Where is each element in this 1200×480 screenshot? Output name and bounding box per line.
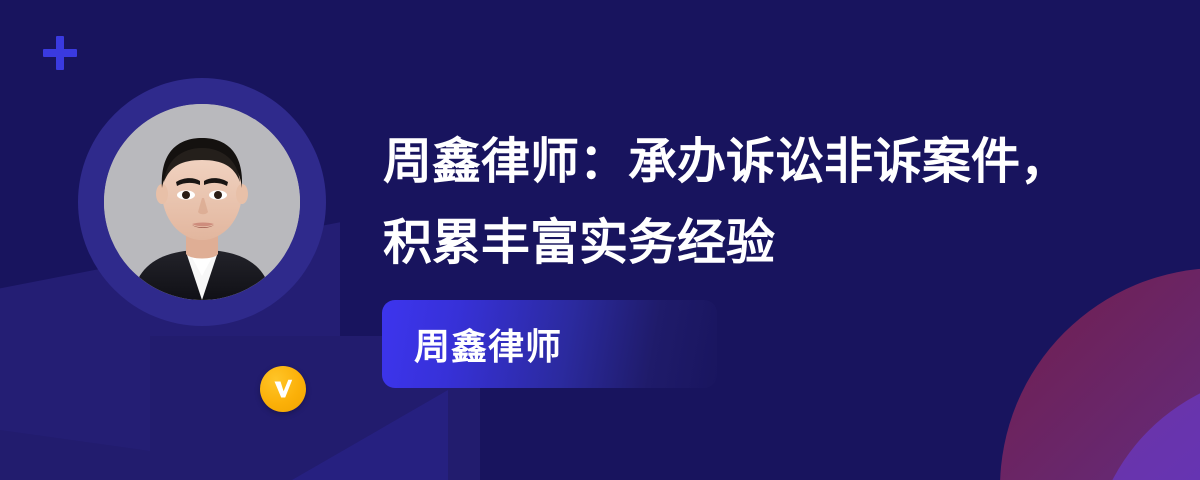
verified-badge-icon (260, 366, 306, 412)
decorative-gradient-circle-inner (1090, 372, 1200, 480)
avatar-photo (104, 104, 300, 300)
page-title: 周鑫律师：承办诉讼非诉案件，积累丰富实务经验 (383, 122, 1083, 284)
decorative-polygon-bottom (0, 430, 150, 480)
decorative-polygon-triangle (188, 390, 448, 480)
decorative-gradient-circle-outer (1000, 268, 1200, 480)
avatar (78, 78, 326, 326)
lawyer-name-tag[interactable]: 周鑫律师 (382, 300, 717, 388)
lawyer-name-label: 周鑫律师 (414, 318, 562, 370)
plus-icon (43, 36, 77, 70)
profile-banner: 周鑫律师：承办诉讼非诉案件，积累丰富实务经验 周鑫律师 (0, 0, 1200, 480)
